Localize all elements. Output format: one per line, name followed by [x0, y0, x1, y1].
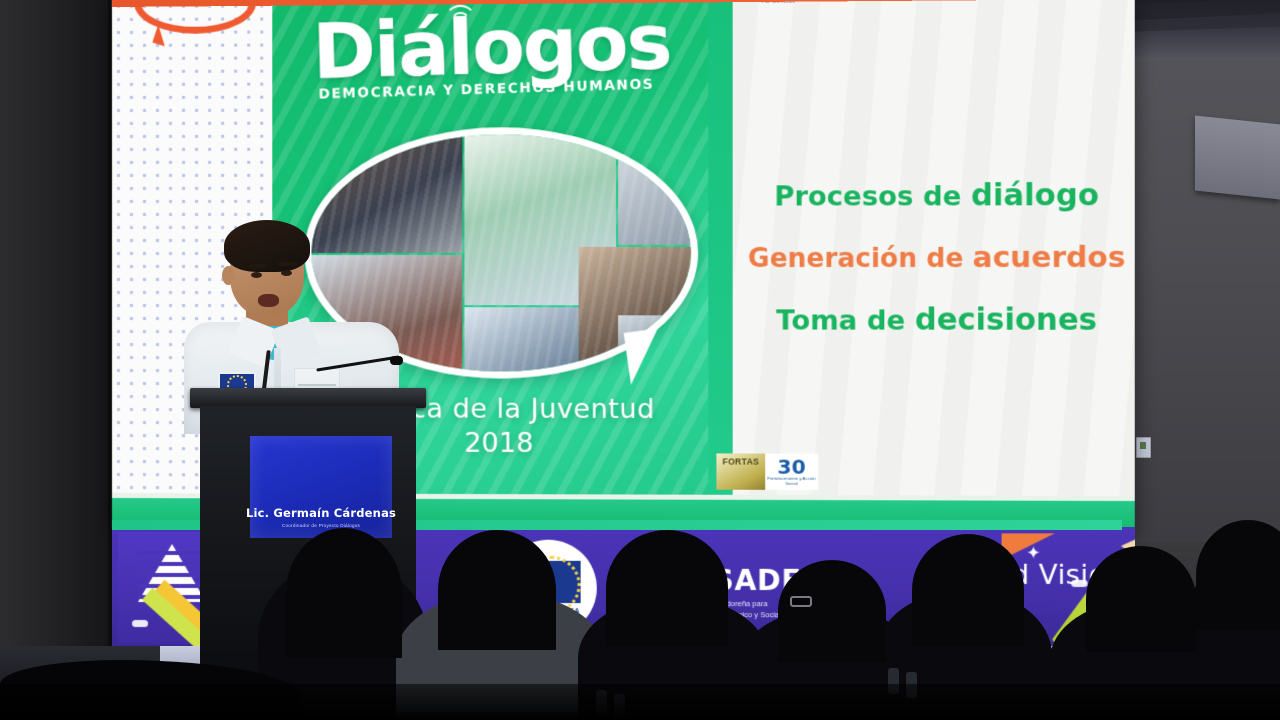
collage-tile	[618, 134, 698, 245]
speaker-name: Lic. Germaín Cárdenas	[246, 506, 396, 520]
speaker-eye	[281, 270, 292, 276]
air-duct	[1195, 116, 1280, 200]
slide-badges: FORTAS 30 Fortalecimiento y Acción Socia…	[716, 453, 818, 490]
slide-message-1: Procesos de diálogo	[741, 181, 1133, 212]
world-vision-star-icon: ✦	[1026, 543, 1041, 563]
eyeglasses-icon	[790, 596, 812, 607]
audience-head	[286, 528, 402, 658]
podium-mic-head	[390, 356, 403, 365]
slide-message-2-emphasis: acuerdos	[973, 240, 1126, 274]
speaker-brow	[278, 262, 297, 266]
podium-nameplate: Lic. Germaín Cárdenas Coordinador de Pro…	[250, 436, 392, 538]
light-switch-plate	[1136, 437, 1151, 458]
speaker-hair	[224, 220, 310, 272]
anniversary-text: Fortalecimiento y Acción Social	[765, 475, 818, 486]
audience-head	[606, 530, 728, 646]
dialogos-logo: Diálogos DEMOCRACIA Y DERECHOS HUMANOS	[312, 8, 675, 119]
anniversary-badge: 30 Fortalecimiento y Acción Social	[765, 454, 818, 490]
left-column	[0, 0, 118, 660]
podium-top	[190, 388, 426, 408]
speaker-brow	[248, 264, 267, 268]
anniversary-number: 30	[777, 457, 805, 475]
foreground-shadow	[0, 684, 1280, 720]
capsule-icon	[132, 620, 148, 627]
speaker-eye	[251, 272, 262, 278]
audience-head	[438, 530, 556, 650]
slide-message-3-prefix: Toma de	[776, 305, 915, 336]
speaker-ear	[222, 266, 235, 285]
bubble-tail	[624, 328, 665, 385]
audience-head	[778, 560, 886, 662]
slide-message-3: Toma de decisiones	[741, 305, 1133, 336]
slide-message-1-emphasis: diálogo	[971, 178, 1099, 214]
slide-message-1-prefix: Procesos de	[774, 181, 971, 212]
audience-head	[1086, 546, 1196, 652]
speaker-mouth	[258, 294, 279, 307]
audience-head	[912, 534, 1024, 646]
slide-message-2-prefix: Generación de	[748, 244, 973, 274]
fortas-badge: FORTAS	[716, 453, 765, 489]
slide-message-3-emphasis: decisiones	[915, 302, 1097, 338]
conference-photo-scene: Unión Europea · Cooperación World Vision…	[0, 0, 1280, 720]
capsule-icon	[1071, 580, 1087, 587]
slide-message-2: Generación de acuerdos	[741, 243, 1133, 273]
